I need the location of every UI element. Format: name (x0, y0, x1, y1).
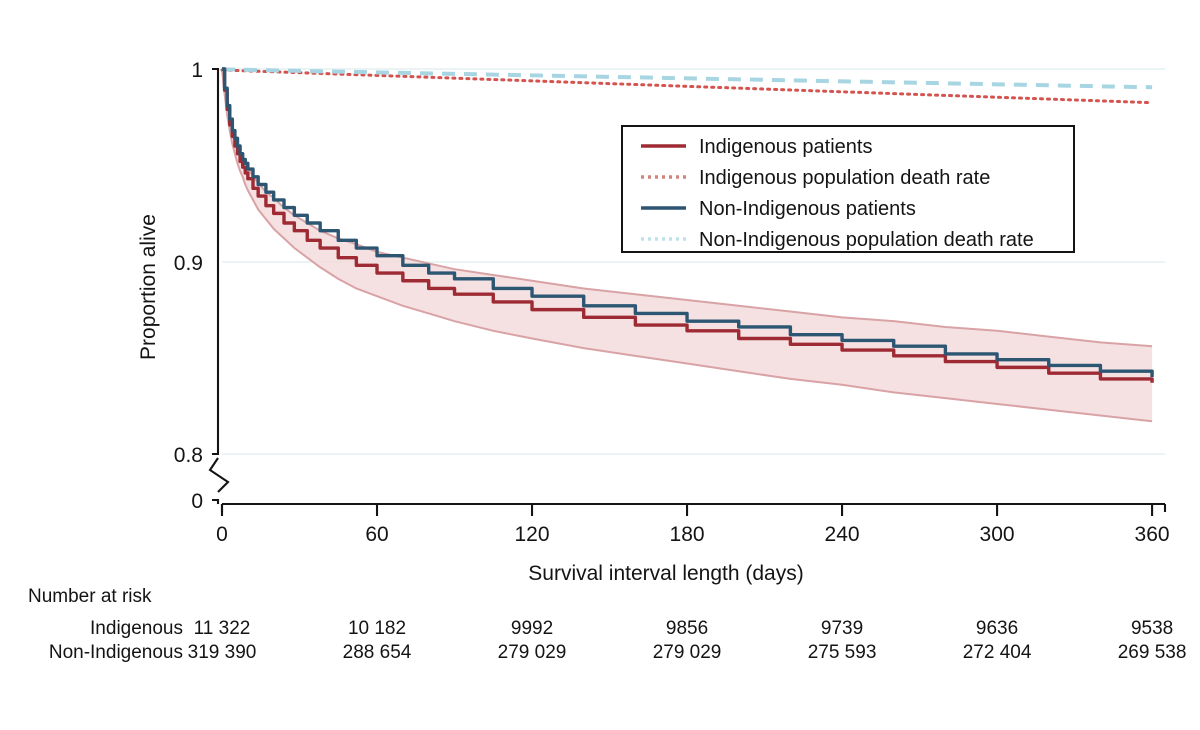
ytick-label-0: 0 (191, 490, 203, 513)
ytick-label-0-8: 0.8 (174, 444, 203, 467)
series-line-non-indigenous-population-death-rate (222, 69, 1152, 87)
risk-row-label-1: Non-Indigenous (49, 642, 183, 663)
risk-value-r1-c3: 279 029 (653, 642, 722, 663)
risk-value-r1-c0: 319 390 (188, 642, 257, 663)
x-tick-labels: 060120180240300360 (216, 523, 1169, 546)
x-tick-label-240: 240 (825, 523, 860, 546)
risk-value-r0-c2: 9992 (511, 618, 553, 639)
risk-value-r0-c4: 9739 (821, 618, 863, 639)
x-axis (222, 504, 1165, 516)
x-tick-label-120: 120 (515, 523, 550, 546)
legend-label-3: Non-Indigenous population death rate (699, 229, 1034, 251)
x-tick-label-360: 360 (1135, 523, 1170, 546)
risk-value-r0-c0: 11 322 (194, 618, 251, 639)
ytick-label-1: 1 (191, 59, 203, 82)
x-tick-marks (222, 504, 1152, 516)
survival-plot-svg: 1 0.9 0.8 0 Proportion alive 06012018024… (0, 0, 1200, 730)
risk-value-r1-c5: 272 404 (963, 642, 1032, 663)
x-axis-title: Survival interval length (days) (528, 562, 803, 585)
chart-figure: 1 0.9 0.8 0 Proportion alive 06012018024… (0, 0, 1200, 730)
x-tick-label-300: 300 (980, 523, 1015, 546)
risk-value-r1-c2: 279 029 (498, 642, 567, 663)
legend[interactable]: Indigenous patientsIndigenous population… (622, 126, 1074, 252)
legend-item-3[interactable]: Non-Indigenous population death rate (641, 229, 1034, 251)
legend-label-2: Non-Indigenous patients (699, 198, 916, 220)
ytick-label-0-9: 0.9 (174, 252, 203, 275)
risk-row-label-0: Indigenous (90, 618, 183, 639)
y-axis-title: Proportion alive (137, 214, 160, 360)
risk-value-r1-c6: 269 538 (1118, 642, 1187, 663)
x-tick-label-60: 60 (365, 523, 388, 546)
risk-value-r1-c4: 275 593 (808, 642, 877, 663)
risk-table: Number at risk Indigenous11 32210 182999… (28, 586, 1186, 663)
risk-value-r0-c3: 9856 (666, 618, 708, 639)
x-tick-label-0: 0 (216, 523, 228, 546)
risk-value-r0-c6: 9538 (1131, 618, 1173, 639)
risk-value-r1-c1: 288 654 (343, 642, 412, 663)
risk-table-rows: Indigenous11 32210 182999298569739963695… (49, 618, 1187, 663)
legend-label-0: Indigenous patients (699, 136, 872, 158)
series-line-indigenous-population-death-rate (222, 70, 1152, 103)
risk-value-r0-c1: 10 182 (348, 618, 406, 639)
legend-label-1: Indigenous population death rate (699, 167, 990, 189)
risk-value-r0-c5: 9636 (976, 618, 1018, 639)
x-tick-label-180: 180 (670, 523, 705, 546)
y-axis (210, 69, 228, 504)
risk-table-title: Number at risk (28, 586, 152, 607)
